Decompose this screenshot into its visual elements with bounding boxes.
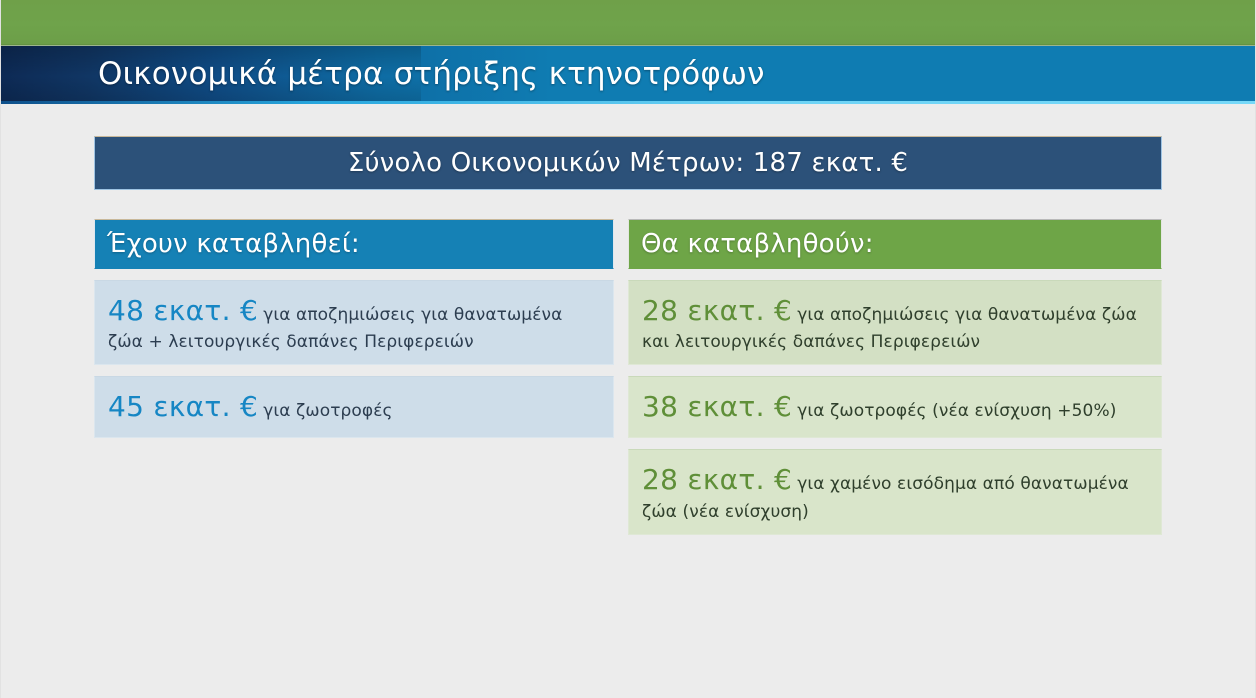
paid-item-card: 45 εκατ. € για ζωοτροφές [94, 376, 614, 438]
to-be-paid-item-line: 28 εκατ. € για χαμένο εισόδημα από θανατ… [642, 461, 1147, 498]
header-underline [1, 101, 1256, 104]
to-be-paid-item-description: για χαμένο εισόδημα από θανατωμένα [797, 474, 1129, 494]
column-to-be-paid-heading-label: Θα καταβληθούν: [641, 229, 874, 259]
paid-item-amount: 48 εκατ. € [108, 294, 258, 327]
to-be-paid-item-amount: 28 εκατ. € [642, 463, 792, 496]
paid-item-card: 48 εκατ. € για αποζημιώσεις για θανατωμέ… [94, 280, 614, 365]
paid-item-amount: 45 εκατ. € [108, 390, 258, 423]
paid-item-description: για αποζημιώσεις για θανατωμένα [263, 305, 562, 325]
slide-root: Οικονομικά μέτρα στήριξης κτηνοτρόφων Σύ… [0, 0, 1256, 698]
header-green-band [1, 0, 1256, 45]
to-be-paid-item-description-cont: και λειτουργικές δαπάνες Περιφερειών [642, 332, 1147, 352]
to-be-paid-item-card: 28 εκατ. € για αποζημιώσεις για θανατωμέ… [628, 280, 1162, 365]
paid-item-description-cont: ζώα + λειτουργικές δαπάνες Περιφερειών [108, 332, 599, 352]
to-be-paid-item-description: για αποζημιώσεις για θανατωμένα ζώα [797, 305, 1137, 325]
to-be-paid-item-description: για ζωοτροφές (νέα ενίσχυση +50%) [797, 401, 1116, 421]
column-to-be-paid-header: Θα καταβληθούν: [628, 219, 1162, 269]
column-paid-header: Έχουν καταβληθεί: [94, 219, 614, 269]
column-paid: Έχουν καταβληθεί: 48 εκατ. € για αποζημι… [94, 219, 614, 438]
column-to-be-paid: Θα καταβληθούν: 28 εκατ. € για αποζημιώσ… [628, 219, 1162, 535]
to-be-paid-item-card: 38 εκατ. € για ζωοτροφές (νέα ενίσχυση +… [628, 376, 1162, 438]
paid-item-line: 48 εκατ. € για αποζημιώσεις για θανατωμέ… [108, 292, 599, 329]
page-title: Οικονομικά μέτρα στήριξης κτηνοτρόφων [98, 52, 765, 96]
to-be-paid-item-card: 28 εκατ. € για χαμένο εισόδημα από θανατ… [628, 449, 1162, 534]
to-be-paid-item-amount: 38 εκατ. € [642, 390, 792, 423]
to-be-paid-item-amount: 28 εκατ. € [642, 294, 792, 327]
to-be-paid-item-line: 28 εκατ. € για αποζημιώσεις για θανατωμέ… [642, 292, 1147, 329]
total-measures-label: Σύνολο Οικονομικών Μέτρων: 187 εκατ. € [348, 148, 908, 178]
to-be-paid-item-line: 38 εκατ. € για ζωοτροφές (νέα ενίσχυση +… [642, 388, 1147, 425]
paid-item-description: για ζωοτροφές [263, 401, 392, 421]
total-measures-bar: Σύνολο Οικονομικών Μέτρων: 187 εκατ. € [94, 136, 1162, 190]
to-be-paid-item-description-cont: ζώα (νέα ενίσχυση) [642, 502, 1147, 522]
column-paid-heading-label: Έχουν καταβληθεί: [107, 229, 360, 259]
paid-item-line: 45 εκατ. € για ζωοτροφές [108, 388, 599, 425]
